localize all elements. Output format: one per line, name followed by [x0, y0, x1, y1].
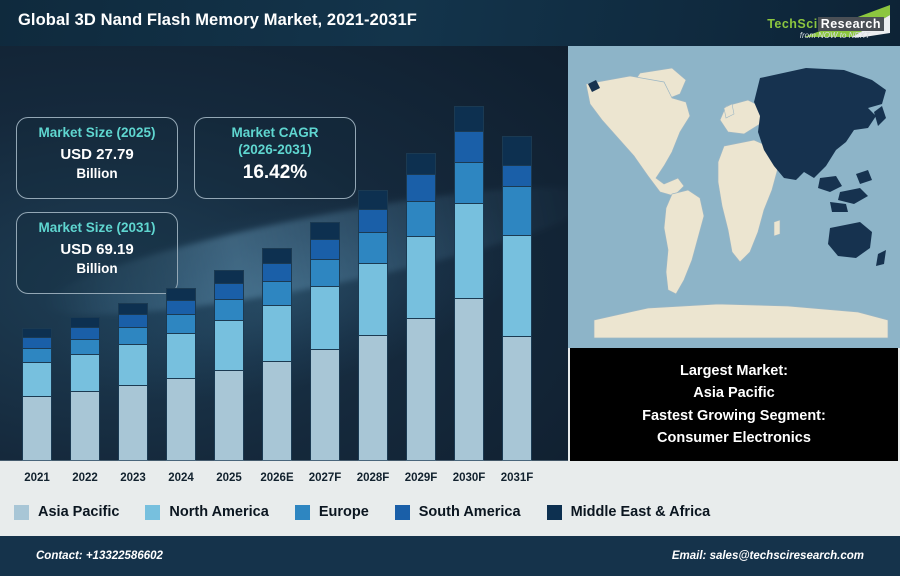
bar-2030F[interactable]	[454, 106, 484, 461]
bar-2028F[interactable]	[358, 190, 388, 461]
bar-segment-asia-pacific	[118, 385, 148, 461]
bar-segment-europe	[454, 162, 484, 203]
bar-segment-south-america	[454, 131, 484, 162]
legend-label: Europe	[319, 504, 369, 520]
legend-label: North America	[169, 504, 268, 520]
stacked-bar-plot	[0, 46, 568, 488]
bar-2029F[interactable]	[406, 153, 436, 461]
bar-2024[interactable]	[166, 288, 196, 461]
bar-segment-south-america	[310, 239, 340, 259]
bar-segment-middle-east-africa	[262, 248, 292, 263]
bar-segment-asia-pacific	[214, 370, 244, 461]
bar-segment-north-america	[118, 344, 148, 385]
bar-segment-europe	[214, 299, 244, 320]
bar-segment-europe	[118, 327, 148, 344]
bar-segment-europe	[502, 186, 532, 235]
x-axis-labels: 202120222023202420252026E2027F2028F2029F…	[0, 461, 568, 488]
bar-segment-asia-pacific	[22, 396, 52, 461]
bar-segment-south-america	[214, 283, 244, 299]
bar-segment-asia-pacific	[502, 336, 532, 461]
bar-2023[interactable]	[118, 303, 148, 461]
chart-legend: Asia PacificNorth AmericaEuropeSouth Ame…	[0, 488, 900, 536]
bar-segment-north-america	[166, 333, 196, 378]
bar-segment-asia-pacific	[454, 298, 484, 461]
bar-segment-asia-pacific	[406, 318, 436, 461]
x-axis-label-2027F: 2027F	[299, 472, 351, 484]
bar-segment-south-america	[70, 327, 100, 339]
world-map-icon	[568, 46, 900, 348]
bar-2021[interactable]	[22, 328, 52, 461]
callout-fastest-segment-label: Fastest Growing Segment:	[642, 405, 826, 427]
bar-segment-north-america	[262, 305, 292, 361]
bar-segment-south-america	[262, 263, 292, 281]
bar-segment-asia-pacific	[166, 378, 196, 461]
bar-segment-europe	[406, 201, 436, 236]
x-axis-label-2026E: 2026E	[251, 472, 303, 484]
footer-email: Email: sales@techsciresearch.com	[672, 550, 864, 562]
x-axis-label-2025: 2025	[203, 472, 255, 484]
bar-2025[interactable]	[214, 270, 244, 461]
market-highlights-callout: Largest Market: Asia Pacific Fastest Gro…	[570, 348, 898, 461]
bar-segment-europe	[70, 339, 100, 354]
bar-segment-north-america	[454, 203, 484, 298]
legend-swatch-icon	[14, 505, 29, 520]
logo-wordmark: TechSciResearch	[767, 17, 884, 31]
bar-segment-north-america	[310, 286, 340, 349]
bar-segment-middle-east-africa	[358, 190, 388, 209]
x-axis-label-2030F: 2030F	[443, 472, 495, 484]
bar-segment-europe	[262, 281, 292, 305]
bar-segment-asia-pacific	[310, 349, 340, 461]
bar-segment-north-america	[70, 354, 100, 391]
bar-segment-asia-pacific	[262, 361, 292, 461]
legend-swatch-icon	[395, 505, 410, 520]
bar-segment-middle-east-africa	[118, 303, 148, 314]
bar-segment-asia-pacific	[358, 335, 388, 461]
legend-item-europe[interactable]: Europe	[295, 504, 369, 520]
bar-segment-south-america	[118, 314, 148, 327]
x-axis-label-2024: 2024	[155, 472, 207, 484]
bar-segment-europe	[310, 259, 340, 286]
legend-label: Asia Pacific	[38, 504, 119, 520]
bar-segment-middle-east-africa	[310, 222, 340, 239]
bar-segment-north-america	[358, 263, 388, 335]
x-axis-label-2029F: 2029F	[395, 472, 447, 484]
infographic-root: Global 3D Nand Flash Memory Market, 2021…	[0, 0, 900, 576]
bar-segment-middle-east-africa	[22, 328, 52, 337]
bar-segment-europe	[22, 348, 52, 362]
callout-fastest-segment-value: Consumer Electronics	[657, 427, 811, 449]
bar-segment-europe	[358, 232, 388, 263]
bar-segment-south-america	[358, 209, 388, 232]
x-axis-label-2031F: 2031F	[491, 472, 543, 484]
chart-panel: Market Size (2025) USD 27.79 Billion Mar…	[0, 46, 568, 488]
callout-largest-market-value: Asia Pacific	[693, 382, 774, 404]
bar-segment-north-america	[406, 236, 436, 318]
page-title: Global 3D Nand Flash Memory Market, 2021…	[18, 11, 417, 30]
logo-text-research: Research	[818, 17, 884, 31]
bar-segment-south-america	[166, 300, 196, 314]
header-bar: Global 3D Nand Flash Memory Market, 2021…	[0, 0, 900, 46]
bar-2026E[interactable]	[262, 248, 292, 461]
bar-segment-south-america	[502, 165, 532, 186]
bar-segment-middle-east-africa	[214, 270, 244, 283]
legend-label: Middle East & Africa	[571, 504, 711, 520]
legend-item-middle-east-africa[interactable]: Middle East & Africa	[547, 504, 711, 520]
legend-swatch-icon	[295, 505, 310, 520]
bar-2022[interactable]	[70, 317, 100, 461]
legend-item-north-america[interactable]: North America	[145, 504, 268, 520]
bar-segment-middle-east-africa	[454, 106, 484, 131]
logo-text-techsci: TechSci	[767, 17, 818, 31]
bar-segment-south-america	[406, 174, 436, 201]
techsci-research-logo: TechSciResearch from NOW to NEXT	[712, 2, 894, 44]
x-axis-label-2023: 2023	[107, 472, 159, 484]
legend-item-south-america[interactable]: South America	[395, 504, 521, 520]
x-axis-label-2022: 2022	[59, 472, 111, 484]
bar-segment-north-america	[214, 320, 244, 370]
bar-segment-middle-east-africa	[502, 136, 532, 165]
footer-bar: Contact: +13322586602 Email: sales@techs…	[0, 536, 900, 576]
bar-segment-south-america	[22, 337, 52, 348]
bar-segment-north-america	[502, 235, 532, 336]
legend-item-asia-pacific[interactable]: Asia Pacific	[14, 504, 119, 520]
callout-largest-market-label: Largest Market:	[680, 360, 788, 382]
legend-label: South America	[419, 504, 521, 520]
world-map-panel	[568, 46, 900, 348]
bar-segment-north-america	[22, 362, 52, 396]
bar-segment-middle-east-africa	[406, 153, 436, 174]
bar-segment-middle-east-africa	[70, 317, 100, 327]
legend-swatch-icon	[547, 505, 562, 520]
footer-contact: Contact: +13322586602	[36, 550, 163, 562]
legend-swatch-icon	[145, 505, 160, 520]
logo-tagline: from NOW to NEXT	[800, 31, 870, 40]
bar-segment-europe	[166, 314, 196, 333]
bar-2031F[interactable]	[502, 136, 532, 461]
x-axis-label-2028F: 2028F	[347, 472, 399, 484]
bar-segment-middle-east-africa	[166, 288, 196, 300]
bar-segment-asia-pacific	[70, 391, 100, 461]
bar-2027F[interactable]	[310, 222, 340, 461]
x-axis-label-2021: 2021	[11, 472, 63, 484]
